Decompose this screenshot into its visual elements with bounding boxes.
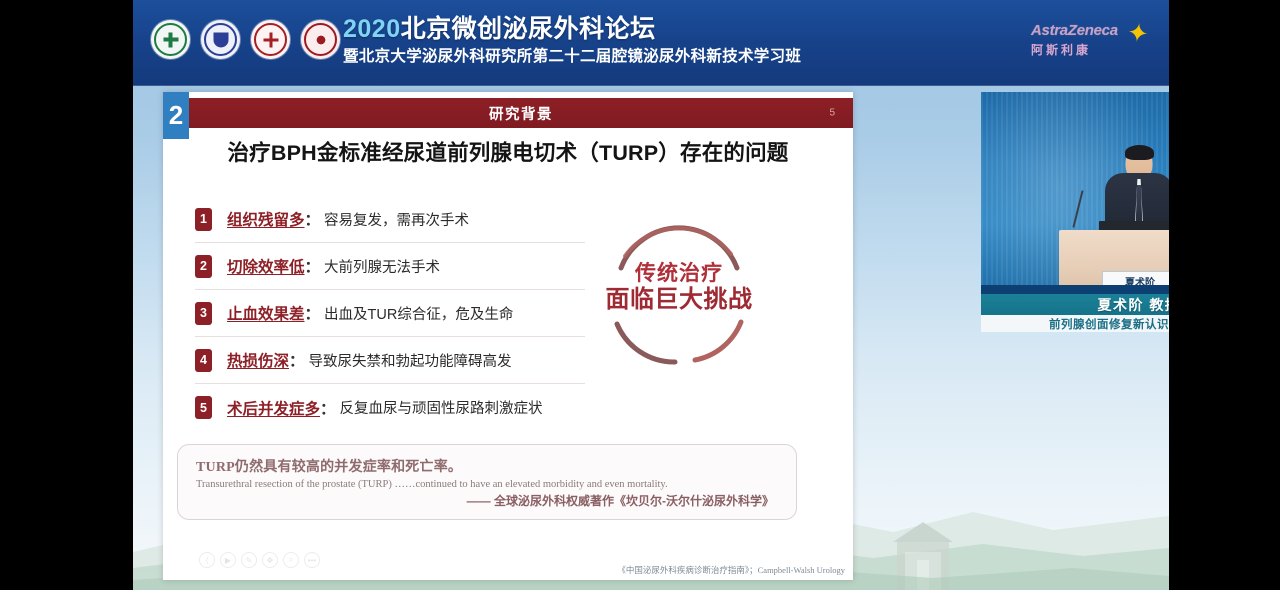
slide-page-number: 5 [829, 108, 835, 119]
screen: 2020北京微创泌尿外科论坛 暨北京大学泌尿外科研究所第二十二届腔镜泌尿外科新技… [0, 0, 1280, 590]
list-item-key: 热损伤深 [227, 349, 289, 371]
list-item: 4 热损伤深 ： 导致尿失禁和勃起功能障碍高发 [195, 337, 585, 384]
list-item-key: 切除效率低 [227, 255, 305, 277]
slide-section-title: 研究背景 [489, 103, 553, 124]
banner-title-year: 2020 [343, 15, 401, 43]
slide-section-title-bar: 研究背景 5 [189, 98, 853, 128]
play-icon[interactable]: ▶ [220, 552, 236, 568]
banner-title-main: 北京微创泌尿外科论坛 [401, 15, 656, 43]
list-item-colon: ： [305, 208, 321, 230]
speaker-name-band: 夏术阶 教授 [981, 294, 1169, 315]
pointer-icon[interactable]: ✥ [262, 552, 278, 568]
problem-list: 1 组织残留多 ： 容易复发，需再次手术 2 切除效率低 ： 大前列腺无法手术 … [195, 196, 585, 431]
list-item-badge: 1 [195, 208, 212, 231]
slide-tab-label: 2 [169, 102, 183, 128]
list-item: 1 组织残留多 ： 容易复发，需再次手术 [195, 196, 585, 243]
quote-box: TURP仍然具有较高的并发症率和死亡率。 Transurethral resec… [177, 444, 797, 520]
event-banner: 2020北京微创泌尿外科论坛 暨北京大学泌尿外科研究所第二十二届腔镜泌尿外科新技… [133, 0, 1169, 86]
media-toolbar[interactable]: ⟨ ▶ ✎ ✥ ⌕ ••• [199, 552, 320, 568]
more-icon[interactable]: ••• [304, 552, 320, 568]
list-item-value: 出血及TUR综合征，危及生命 [324, 303, 513, 324]
challenge-callout: 传统治疗 面临巨大挑战 [591, 210, 767, 382]
logo-snake-red-icon [251, 20, 290, 59]
slide-number-tab: 2 [163, 92, 189, 139]
speaker-hair [1125, 145, 1154, 160]
presentation-slide: 2 研究背景 5 治疗BPH金标准经尿道前列腺电切术（TURP）存在的问题 1 … [163, 92, 853, 580]
banner-titles: 2020北京微创泌尿外科论坛 暨北京大学泌尿外科研究所第二十二届腔镜泌尿外科新技… [343, 14, 801, 68]
list-item-value: 大前列腺无法手术 [324, 256, 440, 277]
speaker-name: 夏术阶 教授 [1098, 295, 1169, 315]
institution-logos [151, 20, 340, 59]
quote-source: —— 全球泌尿外科权威著作《坎贝尔-沃尔什泌尿外科学》 [196, 492, 778, 509]
quote-english: Transurethral resection of the prostate … [196, 479, 778, 490]
speaker-video-panel[interactable]: 夏术阶 夏术阶 教授 前列腺创面修复新认识与临床研究 [981, 92, 1169, 332]
list-item-value: 导致尿失禁和勃起功能障碍高发 [309, 350, 512, 371]
list-item-key: 术后并发症多 [227, 397, 320, 419]
sponsor-flare-icon: ✦ [1126, 19, 1151, 48]
slide-footer-citation: 《中国泌尿外科疾病诊断治疗指南》；Campbell-Walsh Urology [617, 564, 845, 576]
list-item: 2 切除效率低 ： 大前列腺无法手术 [195, 243, 585, 290]
talk-title-band: 前列腺创面修复新认识与临床研究 [981, 315, 1169, 332]
list-item: 5 术后并发症多 ： 反复血尿与顽固性尿路刺激症状 [195, 384, 585, 431]
list-item-value: 反复血尿与顽固性尿路刺激症状 [340, 397, 543, 418]
broadcast-area: 2020北京微创泌尿外科论坛 暨北京大学泌尿外科研究所第二十二届腔镜泌尿外科新技… [133, 0, 1169, 590]
search-icon[interactable]: ⌕ [283, 552, 299, 568]
list-item-colon: ： [289, 349, 305, 371]
list-item-badge: 5 [195, 396, 212, 419]
challenge-line-1: 传统治疗 [591, 262, 767, 286]
list-item-badge: 4 [195, 349, 212, 372]
list-item-colon: ： [320, 397, 336, 419]
list-item-key: 止血效果差 [227, 302, 305, 324]
logo-cross-green-icon [151, 20, 190, 59]
rewind-icon[interactable]: ⟨ [199, 552, 215, 568]
talk-title: 前列腺创面修复新认识与临床研究 [1049, 316, 1169, 332]
list-item-key: 组织残留多 [227, 208, 305, 230]
banner-title: 2020北京微创泌尿外科论坛 [343, 14, 801, 44]
list-item-colon: ： [305, 302, 321, 324]
banner-subtitle: 暨北京大学泌尿外科研究所第二十二届腔镜泌尿外科新技术学习班 [343, 46, 801, 68]
quote-chinese: TURP仍然具有较高的并发症率和死亡率。 [196, 456, 778, 476]
pen-icon[interactable]: ✎ [241, 552, 257, 568]
lower-third: 夏术阶 教授 前列腺创面修复新认识与临床研究 [981, 285, 1169, 332]
slide-heading: 治疗BPH金标准经尿道前列腺电切术（TURP）存在的问题 [163, 136, 853, 167]
list-item-badge: 3 [195, 302, 212, 325]
list-item-badge: 2 [195, 255, 212, 278]
challenge-line-2: 面临巨大挑战 [591, 286, 767, 314]
lower-third-accent [981, 285, 1169, 294]
list-item-colon: ： [305, 255, 321, 277]
sponsor-logo: ✦ AstraZeneca 阿斯利康 [1031, 22, 1151, 66]
logo-seal-red-icon [301, 20, 340, 59]
challenge-text: 传统治疗 面临巨大挑战 [591, 262, 767, 314]
logo-book-blue-icon [201, 20, 240, 59]
list-item-value: 容易复发，需再次手术 [324, 209, 469, 230]
list-item: 3 止血效果差 ： 出血及TUR综合征，危及生命 [195, 290, 585, 337]
